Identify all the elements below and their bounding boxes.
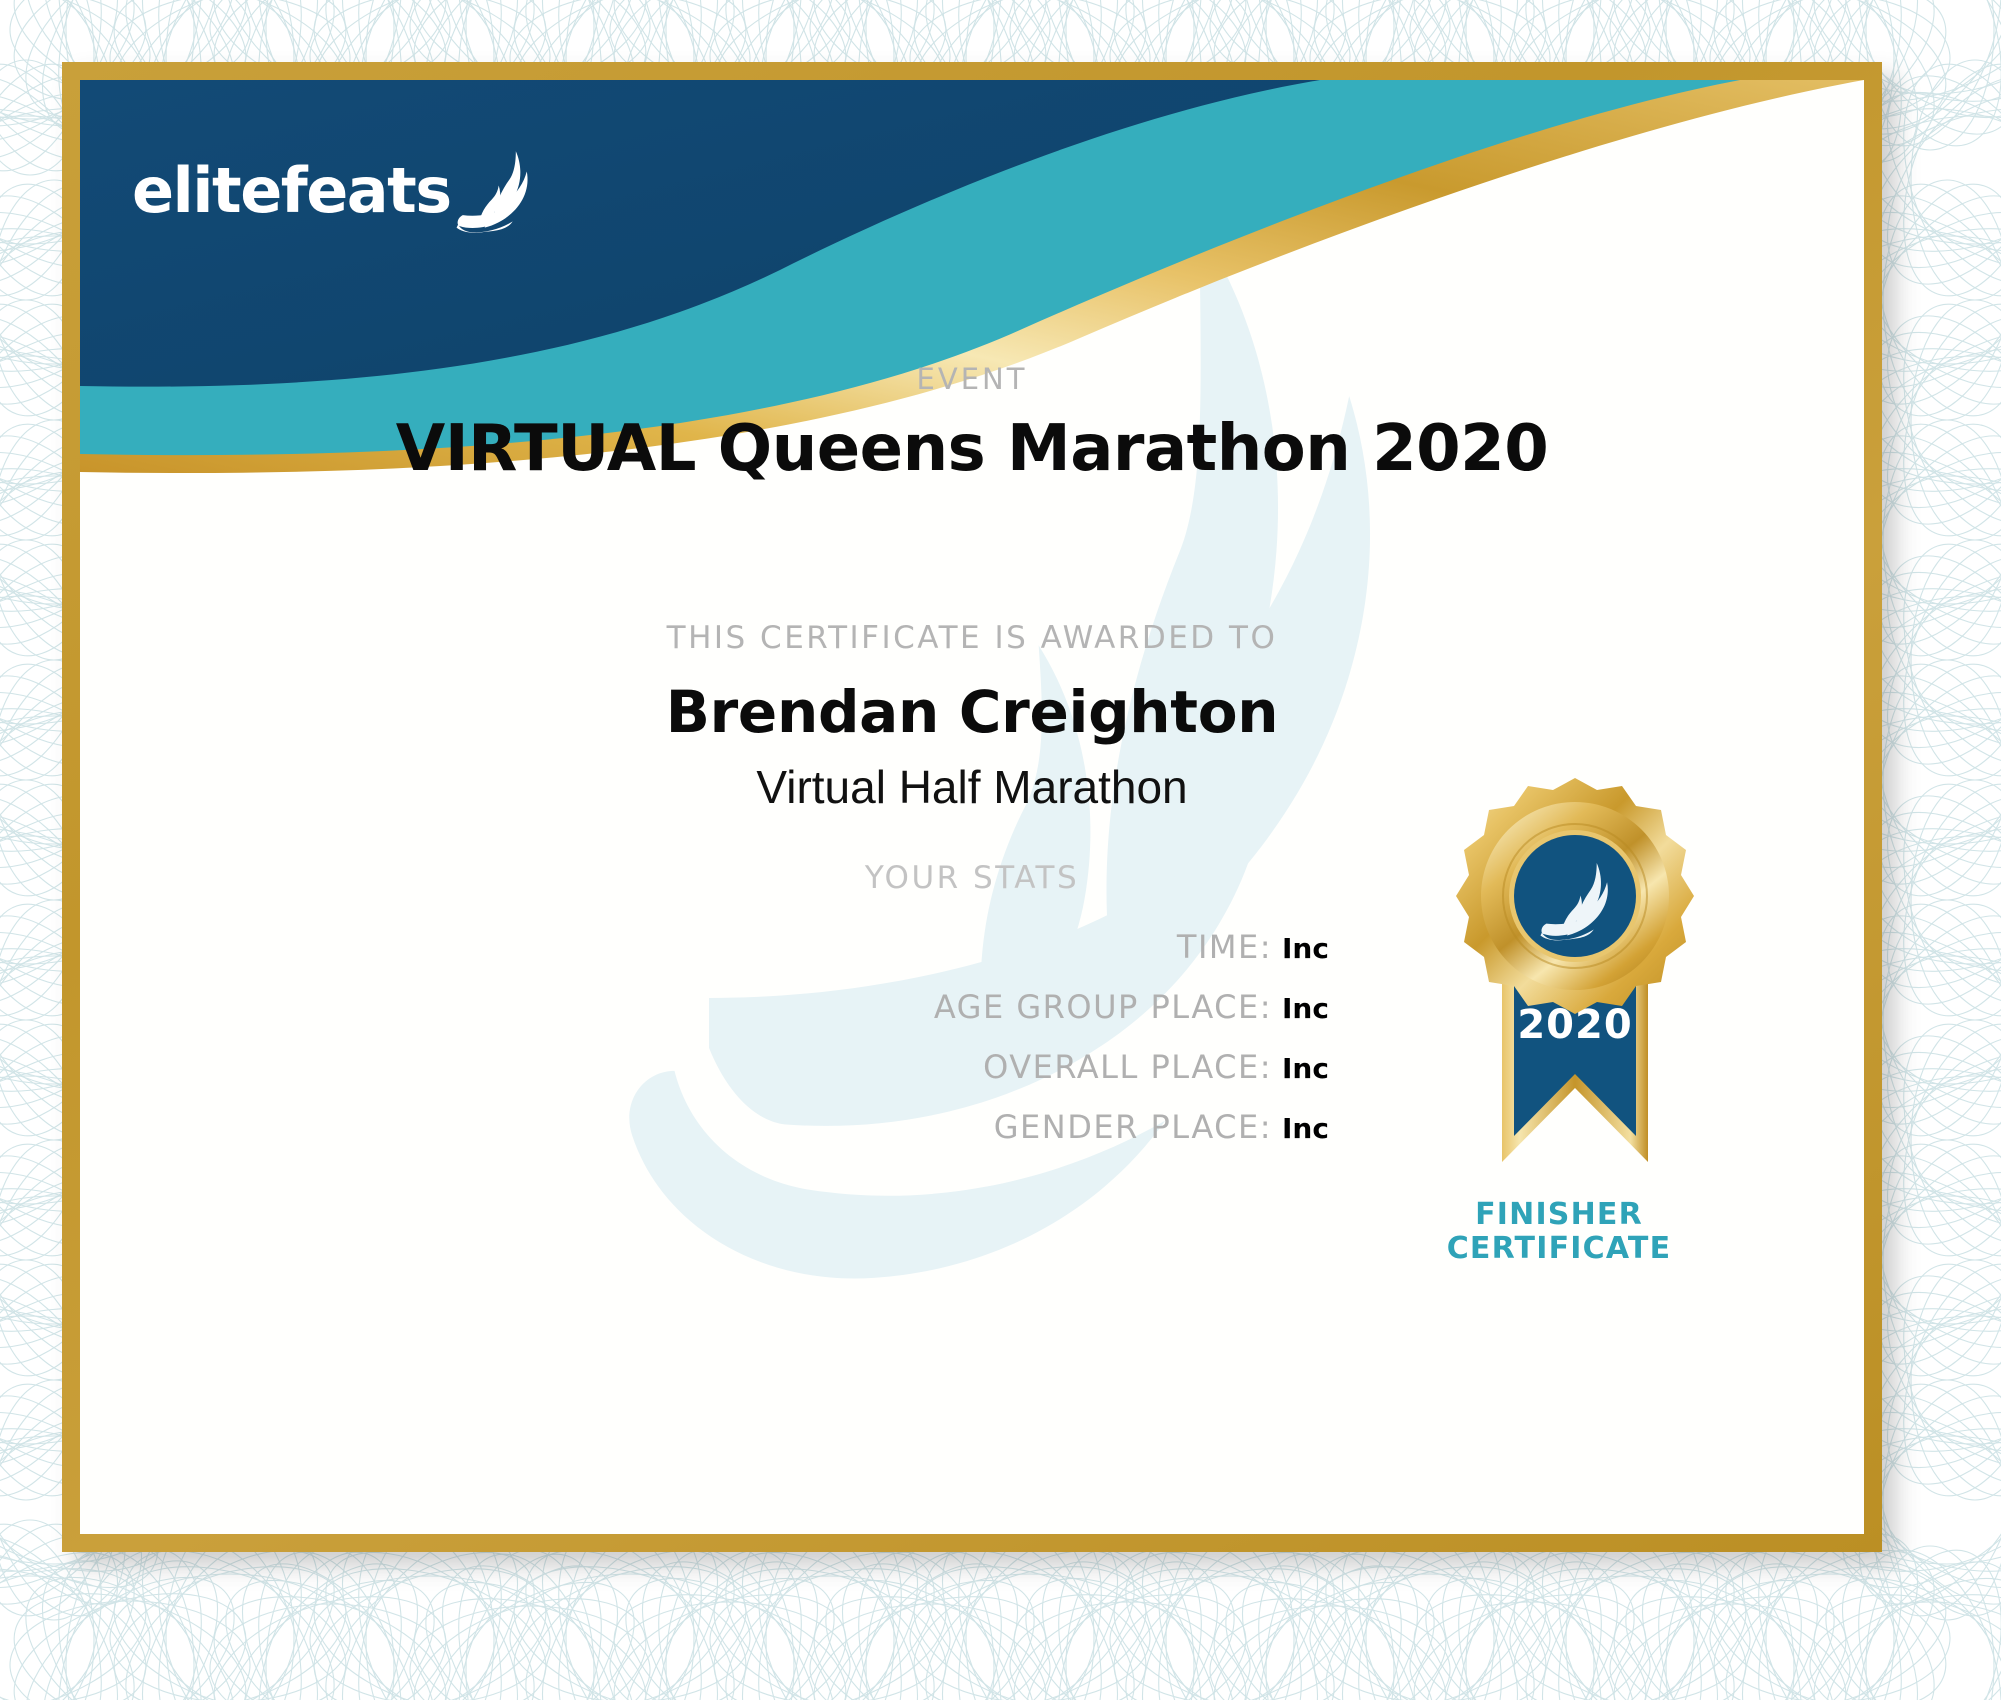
event-label: EVENT [80,362,1864,396]
certificate-gold-border: elitefeats EVENT VIRTUAL Queens Marathon… [62,62,1882,1552]
winged-foot-icon [455,148,533,234]
badge-caption-line2: CERTIFICATE [1425,1232,1693,1266]
finisher-medal-badge: 2020 [1425,770,1725,1290]
stat-label-gender-place: GENDER PLACE: [442,1108,1282,1146]
certificate-page: elitefeats EVENT VIRTUAL Queens Marathon… [0,0,2001,1700]
badge-caption-line1: FINISHER [1425,1198,1693,1232]
medal-starburst [1456,778,1694,1014]
elitefeats-logo: elitefeats [132,148,533,234]
recipient-name: Brendan Creighton [80,678,1864,746]
badge-caption: FINISHER CERTIFICATE [1425,1198,1693,1265]
certificate-inner-card: elitefeats EVENT VIRTUAL Queens Marathon… [80,80,1864,1534]
awarded-to-label: THIS CERTIFICATE IS AWARDED TO [80,620,1864,656]
stat-label-age-group-place: AGE GROUP PLACE: [442,988,1282,1026]
logo-wordmark: elitefeats [132,160,451,222]
certificate-content: EVENT VIRTUAL Queens Marathon 2020 THIS … [80,80,1864,1534]
stat-label-overall-place: OVERALL PLACE: [442,1048,1282,1086]
medal-graphic: 2020 [1425,770,1725,1200]
event-title: VIRTUAL Queens Marathon 2020 [80,412,1864,486]
stat-label-time: TIME: [442,928,1282,966]
